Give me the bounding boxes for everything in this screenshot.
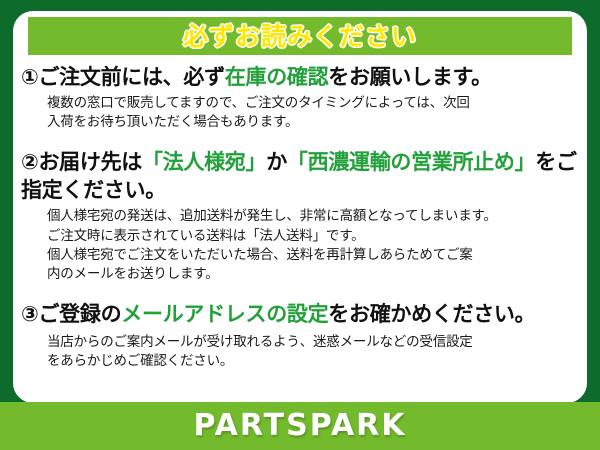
footer-band: PARTSPARK [0,402,600,450]
section-3-heading-highlight: メールアドレスの設定 [121,302,328,326]
section-2-body-line-2: ご注文時に表示されている送料は「法人送料」です。 [47,227,579,246]
notice-section-3: ③ご登録のメールアドレスの設定をお確かめください。 当店からのご案内メールが受け… [13,301,587,371]
notice-sections: ①ご注文前には、必ず在庫の確認をお願いします。 複数の窓口で販売してますので、ご… [13,64,587,371]
section-2-heading-highlight-1: 「法人様宛」 [142,150,266,174]
section-3-heading-part-1: ご登録の [38,302,121,326]
section-2-body-line-4: 内のメールをお送りします。 [47,265,579,284]
section-1-heading-highlight: 在庫の確認 [225,65,329,89]
notice-section-1: ①ご注文前には、必ず在庫の確認をお願いします。 複数の窓口で販売してますので、ご… [13,64,587,132]
section-3-body-line-2: をあらかじめご確認ください。 [47,352,579,371]
section-2-body-line-1: 個人様宅宛の発送は、追加送料が発生し、非常に高額となってしまいます。 [47,207,579,226]
section-2-heading-highlight-2: 「西濃運輸の営業所止め」 [287,150,535,174]
section-2-body-line-3: 個人様宅宛でご注文をいただいた場合、送料を再計算しあらためてご案 [47,246,579,265]
header-title: 必ずお読みください [183,24,417,49]
section-2-heading: ②お届け先は「法人様宛」か「西濃運輸の営業所止め」をご指定ください。 [13,149,587,204]
section-1-heading-part-3: をお願いします。 [328,65,492,89]
section-1-heading: ①ご注文前には、必ず在庫の確認をお願いします。 [13,64,587,92]
section-2-marker: ② [21,150,38,174]
section-2-heading-part-1: お届け先は [38,150,142,174]
notice-section-2: ②お届け先は「法人様宛」か「西濃運輸の営業所止め」をご指定ください。 個人様宅宛… [13,149,587,284]
section-3-marker: ③ [21,302,38,326]
section-1-heading-part-1: ご注文前には、必ず [38,65,224,89]
section-3-body-line-1: 当店からのご案内メールが受け取れるよう、迷惑メールなどの受信設定 [47,333,579,352]
section-3-heading: ③ご登録のメールアドレスの設定をお確かめください。 [13,301,587,329]
section-3-heading-part-3: をお確かめください。 [328,302,535,326]
brand-logo: PARTSPARK [193,411,406,441]
section-3-body: 当店からのご案内メールが受け取れるよう、迷惑メールなどの受信設定 をあらかじめご… [13,333,587,371]
section-1-body: 複数の窓口で販売してますので、ご注文のタイミングによっては、次回 入荷をお待ち頂… [13,94,587,132]
section-2-heading-part-3: か [266,150,287,174]
section-1-body-line-1: 複数の窓口で販売してますので、ご注文のタイミングによっては、次回 [47,94,579,113]
notice-banner: 必ずお読みください ①ご注文前には、必ず在庫の確認をお願いします。 複数の窓口で… [0,0,600,450]
section-1-body-line-2: 入荷をお待ち頂いただく場合もあります。 [47,113,579,132]
header-band: 必ずお読みください [28,17,572,55]
section-1-marker: ① [21,65,38,89]
section-2-body: 個人様宅宛の発送は、追加送料が発生し、非常に高額となってしまいます。 ご注文時に… [13,207,587,284]
